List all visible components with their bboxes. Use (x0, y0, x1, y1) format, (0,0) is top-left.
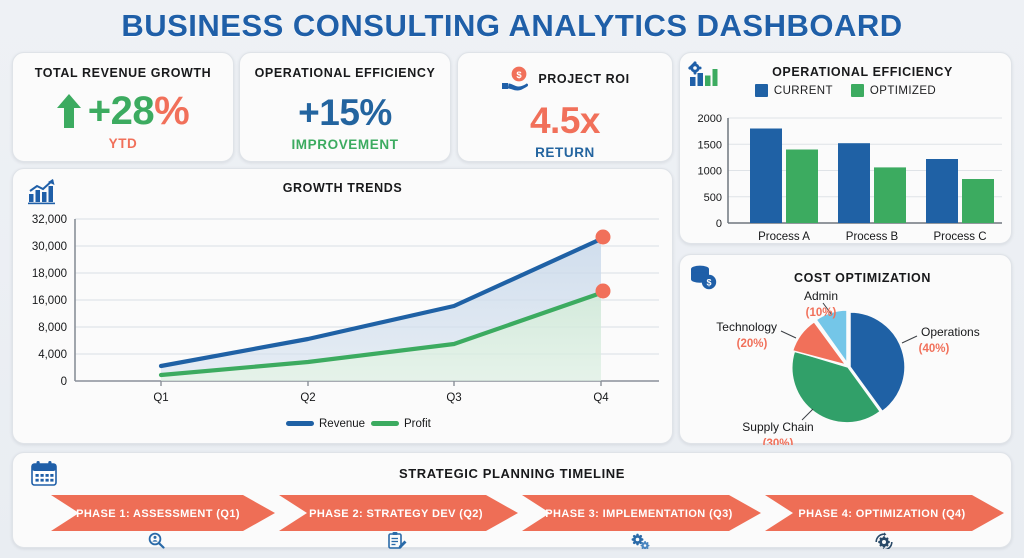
y-tick: 0 (716, 218, 722, 230)
y-axis-tick-labels: 32,000 30,000 18,000 16,000 8,000 4,000 … (32, 214, 67, 388)
y-tick: 1000 (698, 166, 722, 178)
cost-optimization-plot: Operations (40%) Supply Chain (30%) Tech… (680, 281, 1013, 445)
y-tick: 1500 (698, 139, 722, 151)
bar-current-process-c (926, 159, 958, 223)
pie-value-supply-chain: (30%) (763, 438, 794, 445)
timeline-phases: PHASE 1: ASSESSMENT (Q1) PHASE 2: STRATE… (13, 483, 1013, 549)
y-tick: 30,000 (32, 241, 67, 253)
svg-text:$: $ (517, 70, 523, 81)
bar-current-process-a (750, 129, 782, 224)
kpi-value: +15% (240, 94, 450, 133)
legend-label-current: CURRENT (774, 85, 833, 97)
bar-optimized-process-b (874, 167, 906, 223)
clipboard-edit-icon (389, 532, 407, 549)
gear-refresh-icon (876, 532, 892, 549)
kpi-card-total-revenue-growth: TOTAL REVENUE GROWTH +28% YTD (12, 52, 234, 162)
x-tick: Process C (933, 231, 986, 243)
kpi-value: 4.5x (458, 102, 672, 141)
pie-value-technology: (20%) (737, 338, 768, 350)
timeline-label-phase-2: PHASE 2: STRATEGY DEV (Q2) (309, 508, 483, 520)
y-tick: 8,000 (38, 322, 67, 334)
legend-item-optimized: OPTIMIZED (851, 84, 936, 97)
x-tick: Q4 (593, 392, 609, 404)
chart-legend: Revenue Profit (286, 418, 432, 430)
pie-slices (792, 310, 905, 423)
x-tick: Q2 (300, 392, 315, 404)
legend-label-revenue: Revenue (319, 418, 365, 430)
dashboard-page: BUSINESS CONSULTING ANALYTICS DASHBOARD … (0, 0, 1024, 558)
y-tick: 16,000 (32, 295, 67, 307)
legend-swatch-optimized (851, 84, 864, 97)
y-axis-tick-labels: 2000 1500 1000 500 0 (698, 113, 722, 230)
hand-holding-money-icon: $ (500, 66, 530, 92)
chart-card-growth-trends: GROWTH TRENDS (12, 168, 673, 444)
kpi-card-operational-efficiency: OPERATIONAL EFFICIENCY +15% IMPROVEMENT (239, 52, 451, 162)
operational-efficiency-plot: 2000 1500 1000 500 0 Process A Process B… (680, 103, 1013, 245)
chart-title: OPERATIONAL EFFICIENCY (720, 65, 1005, 79)
kpi-title: TOTAL REVENUE GROWTH (13, 66, 233, 80)
pie-label-admin: Admin (804, 289, 838, 303)
x-axis-tick-labels: Process A Process B Process C (758, 231, 986, 243)
pie-label-operations: Operations (921, 325, 980, 339)
legend-label-optimized: OPTIMIZED (870, 85, 936, 97)
timeline-label-phase-3: PHASE 3: IMPLEMENTATION (Q3) (545, 508, 732, 520)
page-title: BUSINESS CONSULTING ANALYTICS DASHBOARD (0, 8, 1024, 44)
up-arrow-icon (57, 94, 81, 128)
kpi-value: +28 (88, 89, 154, 133)
legend-swatch-revenue (286, 421, 314, 426)
kpi-title: PROJECT ROI (538, 72, 629, 86)
legend-swatch-profit (371, 421, 399, 426)
x-tick: Process B (846, 231, 899, 243)
y-tick: 500 (704, 192, 722, 204)
magnifier-person-icon (150, 534, 164, 548)
x-tick: Q3 (446, 392, 461, 404)
y-tick: 0 (61, 376, 67, 388)
kpi-value-unit: % (154, 89, 189, 133)
x-axis-tick-labels: Q1 Q2 Q3 Q4 (153, 392, 609, 404)
kpi-title: OPERATIONAL EFFICIENCY (240, 66, 450, 80)
timeline-card: STRATEGIC PLANNING TIMELINE PHASE 1: ASS… (12, 452, 1012, 548)
bar-optimized-process-a (786, 150, 818, 224)
bar-current-process-b (838, 143, 870, 223)
chart-legend: CURRENT OPTIMIZED (680, 84, 1011, 97)
pie-value-admin: (10%) (806, 307, 837, 319)
kpi-subtitle: YTD (13, 136, 233, 151)
data-point-marker-revenue-q4 (596, 230, 611, 245)
pie-label-technology: Technology (716, 320, 777, 334)
x-tick: Process A (758, 231, 810, 243)
growth-trends-plot: 32,000 30,000 18,000 16,000 8,000 4,000 … (13, 199, 674, 445)
chart-card-operational-efficiency: OPERATIONAL EFFICIENCY CURRENT OPTIMIZED (679, 52, 1012, 244)
legend-swatch-current (755, 84, 768, 97)
chart-card-cost-optimization: $ COST OPTIMIZATION (679, 254, 1012, 444)
y-tick: 18,000 (32, 268, 67, 280)
kpi-card-project-roi: $ PROJECT ROI 4.5x RETURN (457, 52, 673, 162)
chart-title: GROWTH TRENDS (13, 181, 672, 195)
y-tick: 4,000 (38, 349, 67, 361)
pie-label-supply-chain: Supply Chain (742, 420, 813, 434)
kpi-subtitle: IMPROVEMENT (240, 137, 450, 152)
timeline-label-phase-4: PHASE 4: OPTIMIZATION (Q4) (798, 508, 965, 520)
x-tick: Q1 (153, 392, 168, 404)
gears-icon (632, 534, 650, 549)
legend-label-profit: Profit (404, 418, 432, 430)
legend-item-current: CURRENT (755, 84, 833, 97)
bar-optimized-process-c (962, 179, 994, 223)
timeline-title: STRATEGIC PLANNING TIMELINE (13, 466, 1011, 481)
y-tick: 2000 (698, 113, 722, 125)
kpi-subtitle: RETURN (458, 145, 672, 160)
y-tick: 32,000 (32, 214, 67, 226)
data-point-marker-profit-q4 (596, 284, 611, 299)
pie-value-operations: (40%) (919, 343, 950, 355)
timeline-label-phase-1: PHASE 1: ASSESSMENT (Q1) (76, 508, 240, 520)
timeline-icons (150, 532, 892, 549)
